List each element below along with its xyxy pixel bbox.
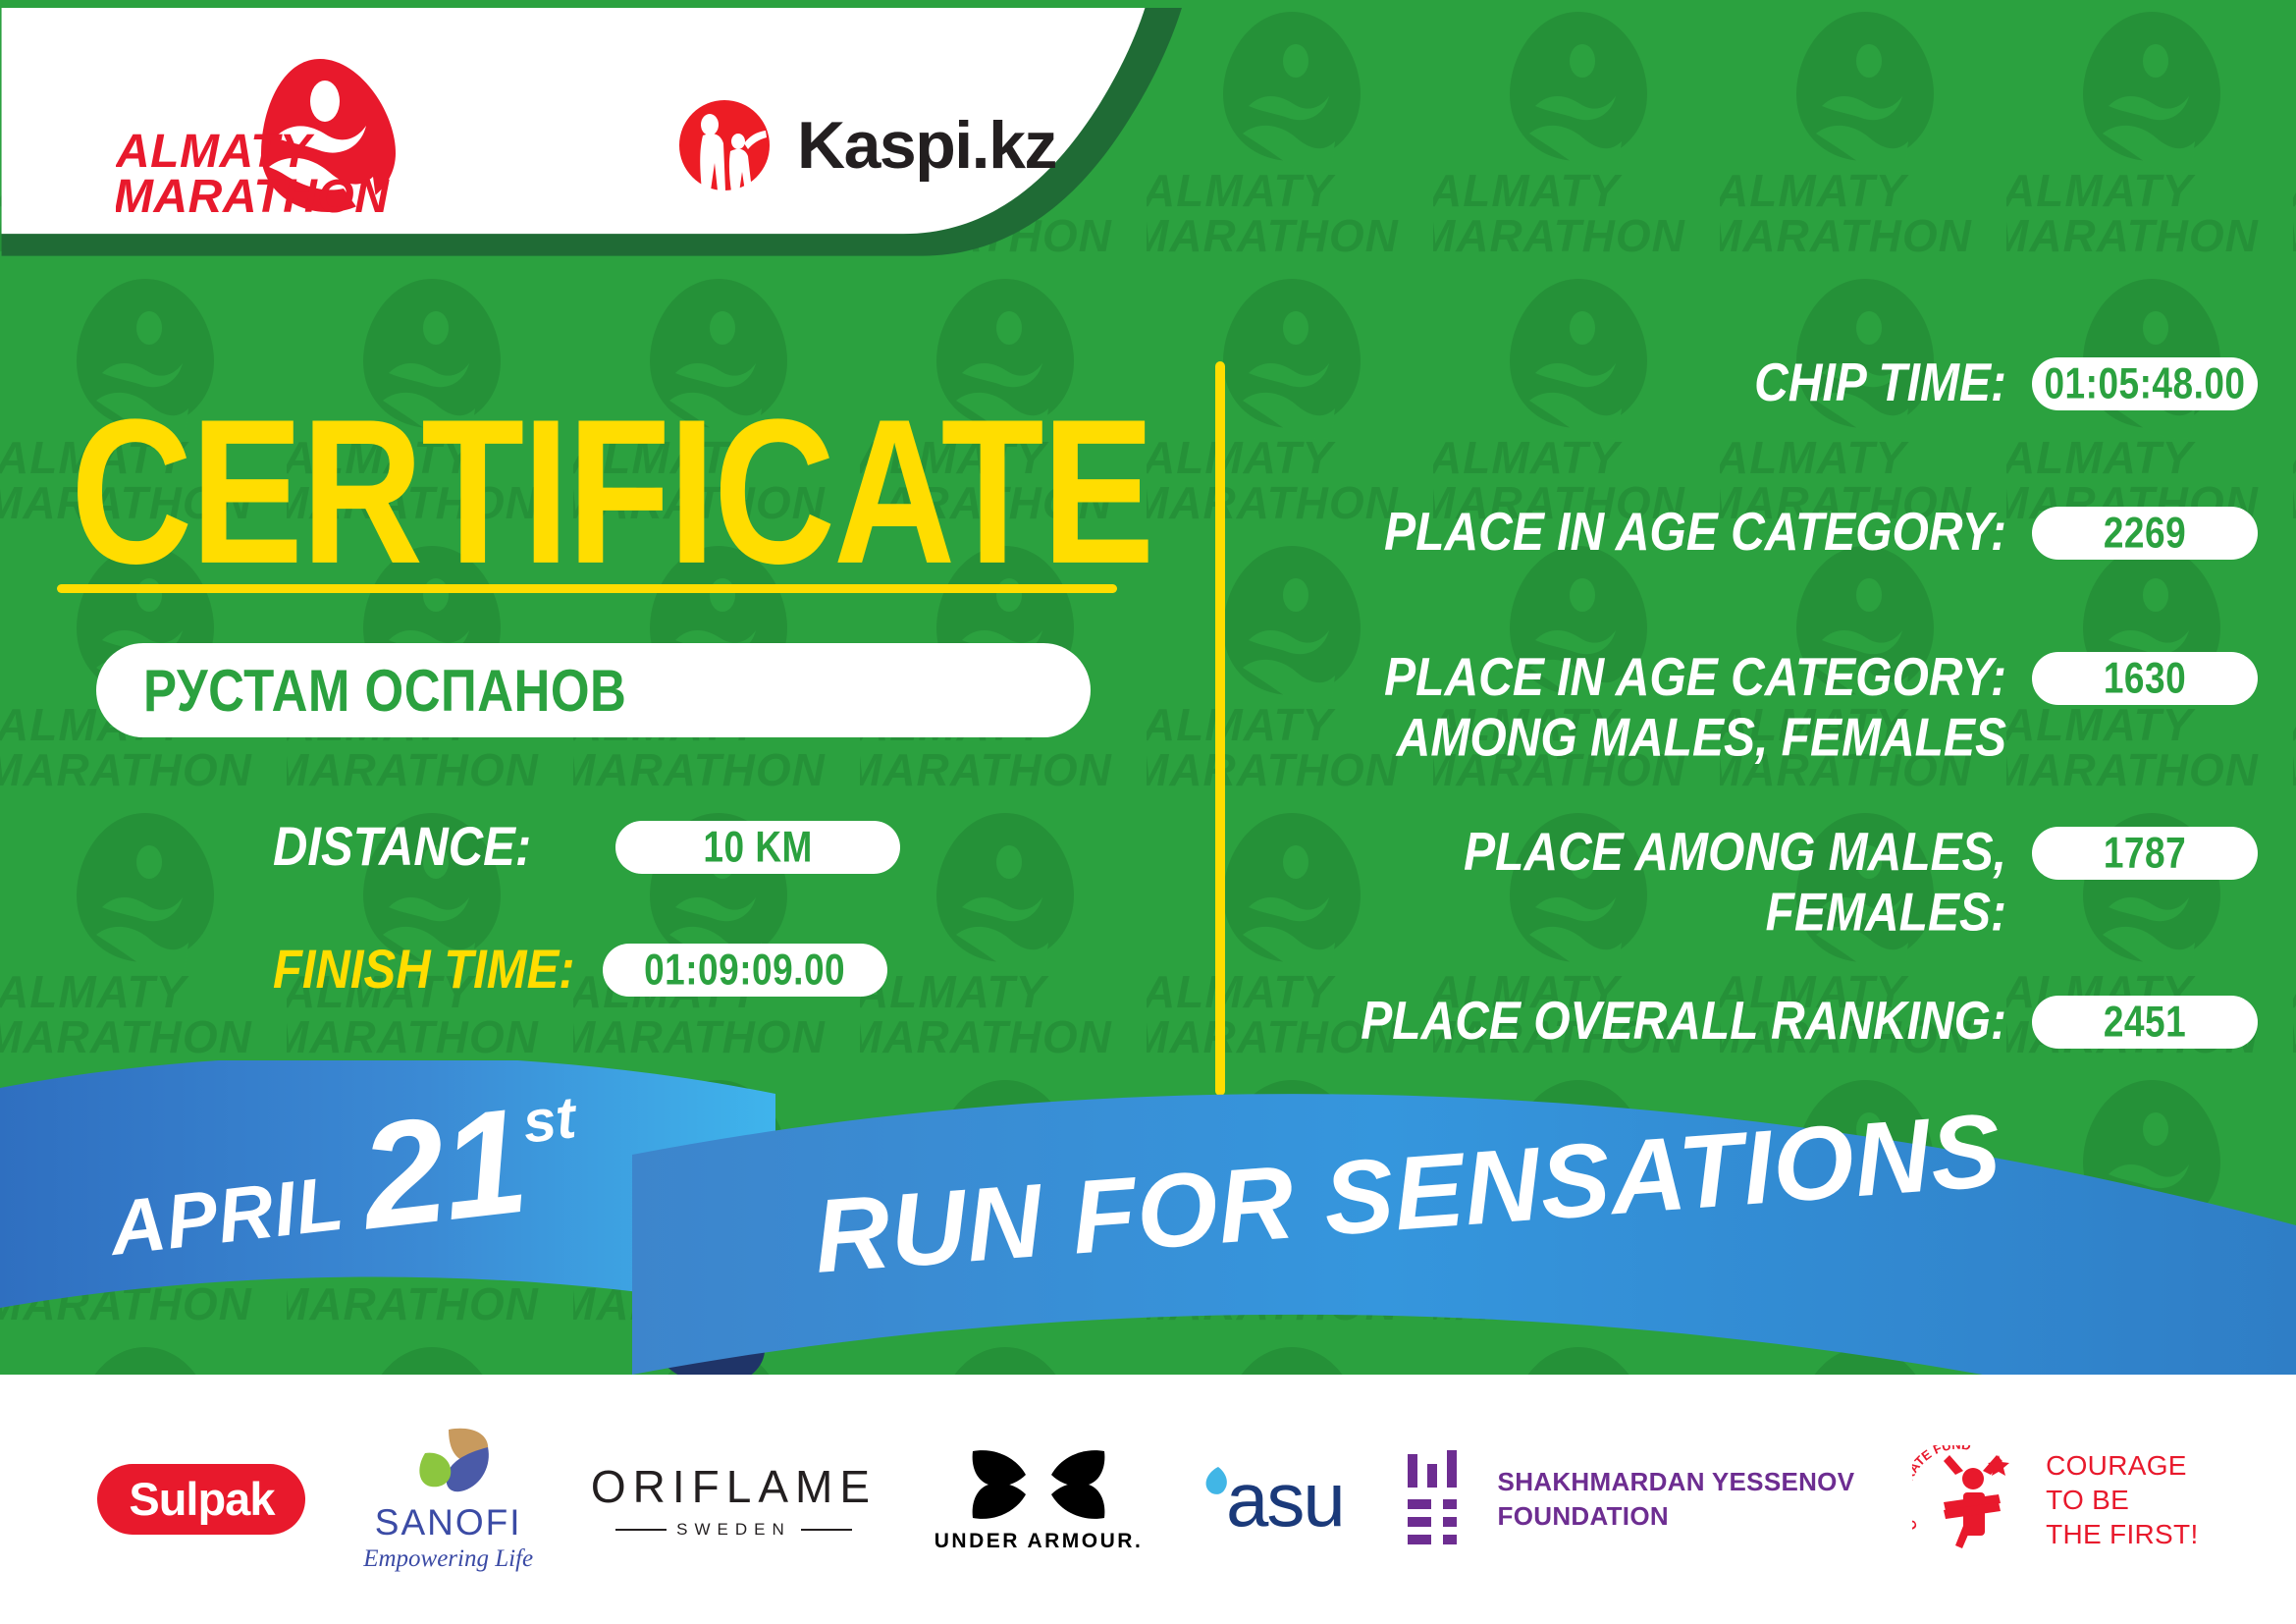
column-divider: [1215, 361, 1225, 1096]
finish-time-value: 01:09:09.00: [644, 946, 845, 995]
oriflame-subtitle-group: SWEDEN: [615, 1520, 852, 1540]
label-line-2: FEMALES:: [1766, 883, 2006, 942]
overall-ranking-value-pill: 2451: [2032, 996, 2258, 1049]
chip-time-label: CHIP TIME:: [1276, 353, 2032, 413]
sulpak-wordmark: Sulpak: [129, 1475, 274, 1523]
label-line-1: PLACE AMONG MALES,: [1464, 823, 2006, 882]
kaspi-wordmark: Kaspi.kz: [797, 112, 1056, 179]
divider-left: [615, 1529, 667, 1531]
result-row-overall-ranking: PLACE OVERALL RANKING: 2451: [1276, 992, 2258, 1049]
sanofi-wordmark: SANOFI: [375, 1502, 522, 1543]
sponsor-oriflame: ORIFLAME SWEDEN: [591, 1460, 877, 1540]
finish-time-value-pill: 01:09:09.00: [603, 944, 887, 997]
sanofi-tagline: Empowering Life: [363, 1545, 533, 1573]
sponsor-bar: Sulpak SANOFI Empowering Life ORIFLAME S…: [0, 1375, 2296, 1624]
distance-value-pill: 10 KM: [615, 821, 900, 874]
oriflame-subtitle: SWEDEN: [676, 1520, 791, 1540]
place-age-category-gender-label: PLACE IN AGE CATEGORY: AMONG MALES, FEMA…: [1276, 648, 2032, 769]
courage-line-2: TO BE: [2046, 1485, 2129, 1515]
courage-figure-icon: CORPORATE FUND: [1912, 1445, 2030, 1553]
distance-value: 10 KM: [703, 823, 812, 872]
svg-text:CORPORATE FUND: CORPORATE FUND: [1912, 1445, 1972, 1533]
almaty-marathon-logo: ALMATY MARATHON: [116, 57, 440, 219]
yessenov-line-1: SHAKHMARDAN YESSENOV: [1498, 1467, 1855, 1496]
result-row-place-among-gender: PLACE AMONG MALES, FEMALES: 1787: [1276, 823, 2258, 929]
participant-name-value: РУСТАМ ОСПАНОВ: [143, 656, 626, 725]
results-column: CHIP TIME: 01:05:48.00 PLACE IN AGE CATE…: [1276, 353, 2258, 1119]
place-age-category-value: 2269: [2104, 509, 2186, 558]
result-row-chip-time: CHIP TIME: 01:05:48.00: [1276, 353, 2258, 410]
place-age-category-value-pill: 2269: [2032, 507, 2258, 560]
result-row-place-age-category-gender: PLACE IN AGE CATEGORY: AMONG MALES, FEMA…: [1276, 648, 2258, 754]
participant-name-field[interactable]: РУСТАМ ОСПАНОВ: [96, 643, 1091, 737]
distance-label: DISTANCE:: [273, 816, 531, 879]
brand-line-2: MARATHON: [116, 171, 390, 219]
divider-right: [801, 1529, 852, 1531]
sponsor-sanofi: SANOFI Empowering Life: [363, 1426, 533, 1573]
kaspi-kz-logo: Kaspi.kz: [677, 93, 1070, 196]
kaspi-icon: [677, 98, 772, 192]
distance-row: DISTANCE: 10 KM: [273, 820, 900, 875]
overall-ranking-label: PLACE OVERALL RANKING:: [1276, 992, 2032, 1052]
event-day-ordinal: st: [520, 1088, 579, 1153]
yessenov-wordmark: SHAKHMARDAN YESSENOV FOUNDATION: [1498, 1465, 1855, 1534]
place-age-category-gender-value-pill: 1630: [2032, 652, 2258, 705]
sanofi-icon: [403, 1426, 494, 1500]
place-among-gender-value-pill: 1787: [2032, 827, 2258, 880]
title-underline: [57, 584, 1117, 593]
courage-line-3: THE FIRST!: [2046, 1519, 2198, 1549]
place-age-category-gender-value: 1630: [2104, 654, 2186, 703]
yessenov-mark-icon: [1402, 1450, 1476, 1548]
sponsor-under-armour: UNDER ARMOUR.: [934, 1445, 1144, 1553]
top-accent-strip: [0, 0, 2296, 8]
finish-time-label: FINISH TIME:: [273, 939, 575, 1001]
event-month: APRIL: [106, 1164, 347, 1267]
place-age-category-label: PLACE IN AGE CATEGORY:: [1276, 503, 2032, 563]
event-day: 21: [354, 1093, 531, 1248]
sponsor-asu: asu: [1201, 1461, 1344, 1538]
sponsor-sulpak: Sulpak: [97, 1464, 305, 1534]
finish-time-row: FINISH TIME: 01:09:09.00: [273, 943, 887, 998]
under-armour-wordmark: UNDER ARMOUR.: [934, 1530, 1144, 1553]
certificate-page: ALMATY MARATHON ALMATY MARATHON: [0, 0, 2296, 1624]
asu-wordmark: asu: [1226, 1461, 1344, 1538]
place-among-gender-label: PLACE AMONG MALES, FEMALES:: [1276, 823, 2032, 944]
yessenov-line-2: FOUNDATION: [1498, 1501, 1669, 1531]
chip-time-value: 01:05:48.00: [2044, 359, 2245, 408]
courage-line-1: COURAGE: [2046, 1450, 2187, 1481]
under-armour-icon: [965, 1445, 1112, 1524]
sponsor-yessenov-foundation: SHAKHMARDAN YESSENOV FOUNDATION: [1402, 1450, 1855, 1548]
label-line-2: AMONG MALES, FEMALES: [1397, 708, 2006, 767]
label-line-1: PLACE IN AGE CATEGORY:: [1384, 648, 2006, 707]
oriflame-wordmark: ORIFLAME: [591, 1460, 877, 1513]
overall-ranking-value: 2451: [2104, 998, 2186, 1047]
sponsor-courage-to-be-the-first: CORPORATE FUND COURAGE TO BE THE FIRST!: [1912, 1445, 2198, 1553]
certificate-left-column: CERTIFICATE РУСТАМ ОСПАНОВ DISTANCE: 10 …: [0, 295, 1207, 1119]
place-among-gender-value: 1787: [2104, 829, 2186, 878]
corporate-fund-arc-text: CORPORATE FUND: [1912, 1445, 1972, 1533]
result-row-place-age-category: PLACE IN AGE CATEGORY: 2269: [1276, 503, 2258, 560]
certificate-title: CERTIFICATE: [71, 389, 1152, 595]
chip-time-value-pill: 01:05:48.00: [2032, 357, 2258, 410]
courage-wordmark: COURAGE TO BE THE FIRST!: [2046, 1448, 2198, 1551]
